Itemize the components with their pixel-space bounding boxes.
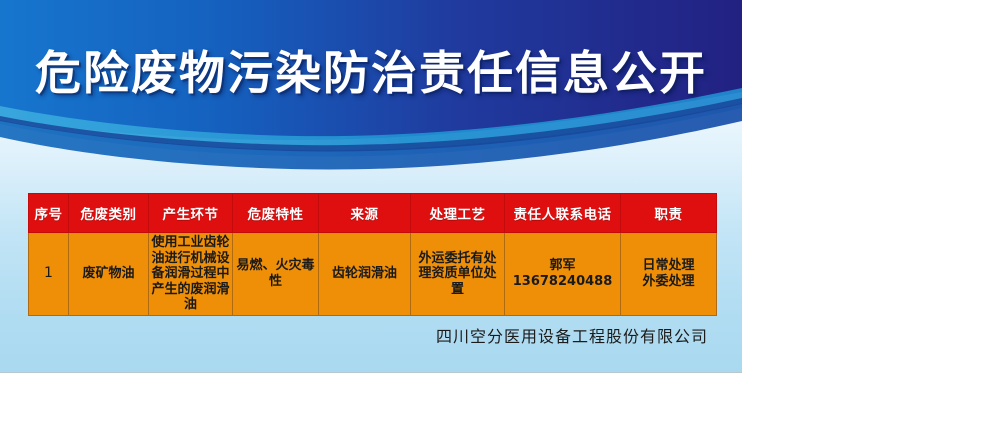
cell-seq: 1 [29,233,69,316]
cell-treatment-process: 外运委托有处理资质单位处置 [411,233,505,316]
cell-contact: 郭军 13678240488 [505,233,621,316]
contact-name: 郭军 [507,258,618,274]
cell-generation-stage: 使用工业齿轮油进行机械设备润滑过程中产生的废润滑油 [149,233,233,316]
duty-line-1: 日常处理 [623,258,714,274]
duty-line-2: 外委处理 [623,274,714,290]
company-name: 四川空分医用设备工程股份有限公司 [28,327,716,347]
column-header-source: 来源 [319,194,411,233]
column-header-category: 危废类别 [69,194,149,233]
column-header-hazard: 危废特性 [233,194,319,233]
column-header-stage: 产生环节 [149,194,233,233]
table-row: 1 废矿物油 使用工业齿轮油进行机械设备润滑过程中产生的废润滑油 易燃、火灾毒性… [29,233,717,316]
cell-category: 废矿物油 [69,233,149,316]
hazardous-waste-table: 序号 危废类别 产生环节 危废特性 来源 处理工艺 责任人联系电话 职责 1 废… [28,193,717,316]
table-header-row: 序号 危废类别 产生环节 危废特性 来源 处理工艺 责任人联系电话 职责 [29,194,717,233]
column-header-contact: 责任人联系电话 [505,194,621,233]
banner-wave-graphic [0,0,742,175]
cell-hazard-property: 易燃、火灾毒性 [233,233,319,316]
cell-source: 齿轮润滑油 [319,233,411,316]
poster-banner: 危险废物污染防治责任信息公开 [0,0,742,175]
contact-phone: 13678240488 [507,274,618,290]
column-header-seq: 序号 [29,194,69,233]
column-header-duty: 职责 [621,194,717,233]
cell-duty: 日常处理 外委处理 [621,233,717,316]
information-poster: 危险废物污染防治责任信息公开 序号 危废类别 产生环节 危废特性 来源 处理工艺… [0,0,742,372]
column-header-treatment: 处理工艺 [411,194,505,233]
